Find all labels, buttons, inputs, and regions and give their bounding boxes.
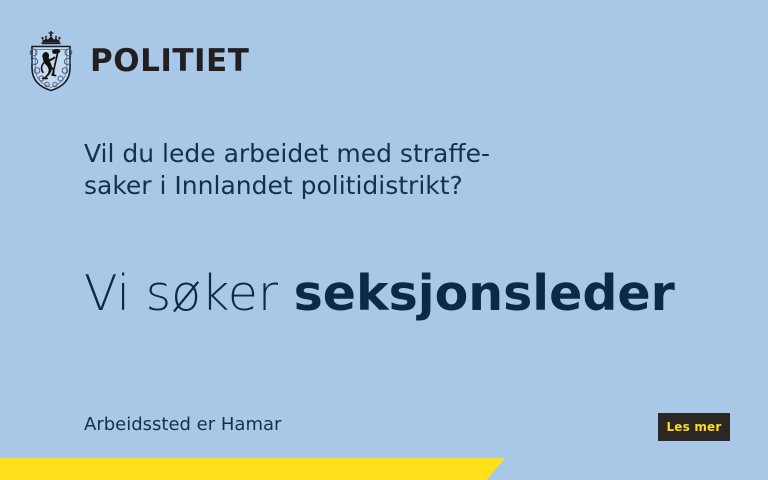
norwegian-coat-of-arms-icon [24,30,78,92]
yellow-accent-bar [0,458,505,480]
politiet-wordmark: POLITIET [90,46,249,77]
headline-light-part: Vi søker [84,265,294,322]
politiet-logo: POLITIET [24,30,249,92]
headline-bold-part: seksjonsleder [294,265,675,322]
kicker-line-1: Vil du lede arbeidet med straffe- [84,138,604,170]
kicker-line-2: saker i Innlandet politidistrikt? [84,170,604,202]
location-text: Arbeidssted er Hamar [84,413,281,437]
les-mer-button[interactable]: Les mer [658,413,730,441]
kicker-text: Vil du lede arbeidet med straffe- saker … [84,138,604,202]
headline: Vi søker seksjonsleder [84,266,675,322]
recruitment-banner: POLITIET Vil du lede arbeidet med straff… [0,0,768,480]
